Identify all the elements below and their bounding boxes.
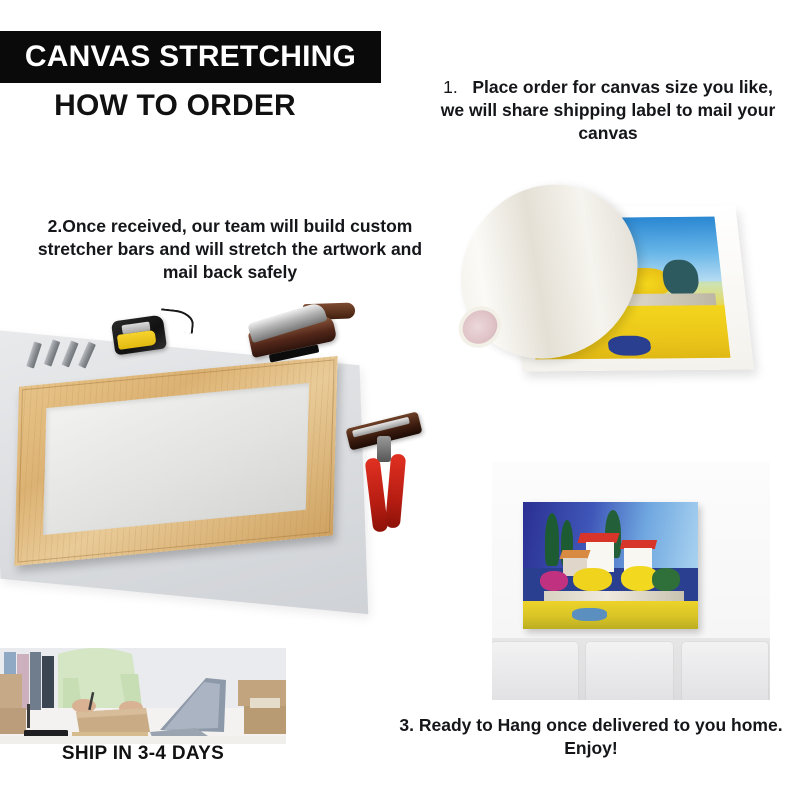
hanging-garment: [42, 656, 54, 708]
tape-measure-icon: [111, 315, 167, 356]
wall-artwork-yellow-bush: [573, 568, 612, 591]
cardboard-box: [0, 708, 26, 734]
pliers-grip: [385, 453, 406, 528]
header-title-bar: CANVAS STRETCHING: [0, 31, 381, 83]
rack-pole: [27, 704, 30, 728]
wall-artwork-magenta-bush: [540, 571, 568, 591]
page-subtitle: HOW TO ORDER: [0, 88, 350, 124]
staple-gun-slot: [269, 344, 320, 362]
staples-group: [28, 340, 98, 370]
step-3-caption: 3. Ready to Hang once delivered to you h…: [382, 714, 800, 760]
sofa-cushion: [492, 642, 578, 700]
packing-photo: [0, 648, 286, 744]
shipping-time-label: SHIP IN 3-4 DAYS: [0, 743, 286, 765]
staple: [78, 341, 96, 368]
page-title: CANVAS STRETCHING: [25, 42, 356, 72]
room-sofa: [492, 638, 770, 700]
sofa-cushion: [682, 642, 769, 700]
canvas-pliers-icon: [347, 420, 423, 550]
wall-mounted-canvas-artwork: [523, 502, 698, 628]
wall-artwork-blue-accent: [572, 608, 607, 621]
step-1-caption: 1. Place order for canvas size you like,…: [432, 76, 784, 145]
staple: [61, 340, 78, 367]
cardboard-box: [244, 706, 286, 734]
rolled-canvas-photo: [440, 178, 800, 440]
step-1-number: 1.: [443, 77, 458, 97]
artwork-blue-foliage: [607, 336, 652, 356]
shipping-label: [250, 698, 280, 708]
wall-artwork-yellow-ground: [523, 601, 698, 629]
step-2-caption: 2.Once received, our team will build cus…: [28, 215, 432, 284]
staple: [44, 339, 60, 366]
hanging-garment: [30, 652, 41, 710]
stretcher-inner-canvas: [43, 383, 309, 535]
pliers-neck: [377, 436, 391, 462]
hung-canvas-photo: [492, 462, 770, 700]
sofa-cushion: [586, 642, 673, 700]
cardboard-box: [0, 674, 22, 708]
wall-artwork-green-bush: [652, 568, 680, 591]
step-1-text: Place order for canvas size you like, we…: [441, 77, 776, 143]
wooden-stretcher-frame: [14, 356, 337, 566]
staple: [26, 341, 42, 368]
